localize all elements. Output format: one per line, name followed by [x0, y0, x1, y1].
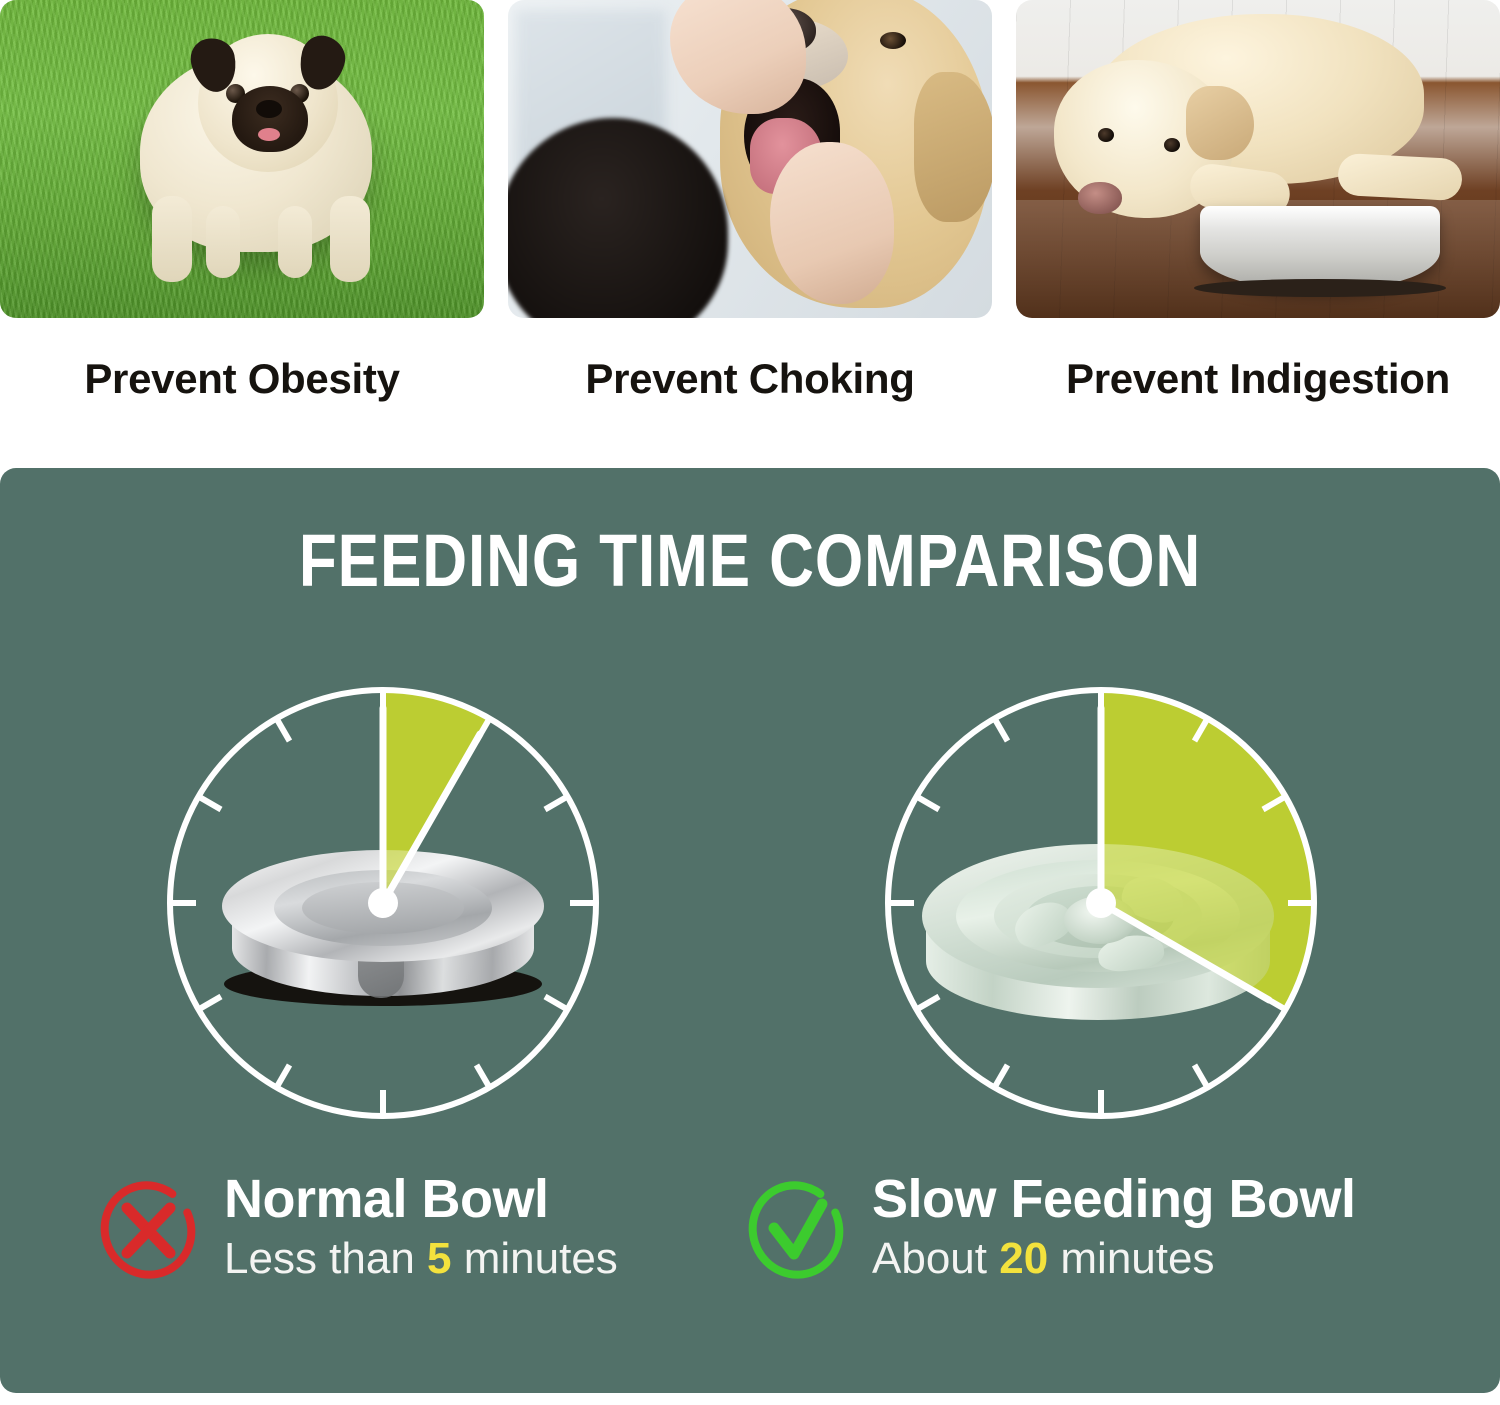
result-sub-value: 5 — [427, 1234, 451, 1283]
result-sub-value: 20 — [999, 1234, 1048, 1283]
labrador-eye — [1098, 128, 1114, 142]
feeding-time-comparison-panel: FEEDING TIME COMPARISON — [0, 468, 1500, 1393]
photo-prevent-choking — [508, 0, 992, 318]
steel-bowl — [1200, 206, 1440, 290]
page-title: FEEDING TIME COMPARISON — [120, 518, 1380, 603]
result-title: Slow Feeding Bowl — [872, 1168, 1356, 1230]
normal-bowl-illustration — [222, 850, 544, 1014]
labrador-nose — [1078, 182, 1122, 214]
caption-prevent-indigestion: Prevent Indigestion — [1016, 348, 1500, 410]
clock-comparison-row — [0, 668, 1500, 1138]
photo-prevent-indigestion — [1016, 0, 1500, 318]
pug-nose — [256, 100, 282, 118]
result-sub-suffix: minutes — [452, 1234, 618, 1283]
pug-leg — [278, 206, 312, 278]
clock-normal-bowl — [148, 668, 618, 1138]
slow-feeder-bowl-illustration — [922, 844, 1274, 1036]
pug-leg — [330, 196, 370, 282]
retriever-ear — [914, 72, 992, 222]
labrador-eye — [1164, 138, 1180, 152]
clock-slow-feeding-bowl — [866, 668, 1336, 1138]
pug-leg — [206, 206, 240, 278]
slow-bowl-center-cone — [1064, 896, 1136, 944]
circle-x-icon — [96, 1178, 200, 1282]
result-sub-suffix: minutes — [1048, 1234, 1214, 1283]
caption-prevent-choking: Prevent Choking — [508, 348, 992, 410]
result-sub-prefix: About — [872, 1234, 999, 1283]
retriever-eye — [880, 32, 906, 49]
caption-prevent-obesity: Prevent Obesity — [0, 348, 484, 410]
result-sub-prefix: Less than — [224, 1234, 427, 1283]
pug-muzzle — [232, 86, 308, 152]
labrador-ear — [1186, 86, 1254, 160]
result-title: Normal Bowl — [224, 1168, 618, 1230]
result-text-block: Slow Feeding Bowl About 20 minutes — [872, 1168, 1356, 1288]
photo-prevent-obesity — [0, 0, 484, 318]
result-subtitle: Less than 5 minutes — [224, 1230, 618, 1288]
bowl-inner-floor — [302, 882, 464, 934]
pug-leg — [152, 196, 192, 282]
circle-check-icon — [744, 1178, 848, 1282]
labrador-paw — [1337, 153, 1463, 201]
benefits-photo-strip: Prevent Obesity Prevent Choking Prevent … — [0, 0, 1500, 440]
pug-tongue — [258, 128, 280, 141]
result-text-block: Normal Bowl Less than 5 minutes — [224, 1168, 618, 1288]
result-subtitle: About 20 minutes — [872, 1230, 1356, 1288]
